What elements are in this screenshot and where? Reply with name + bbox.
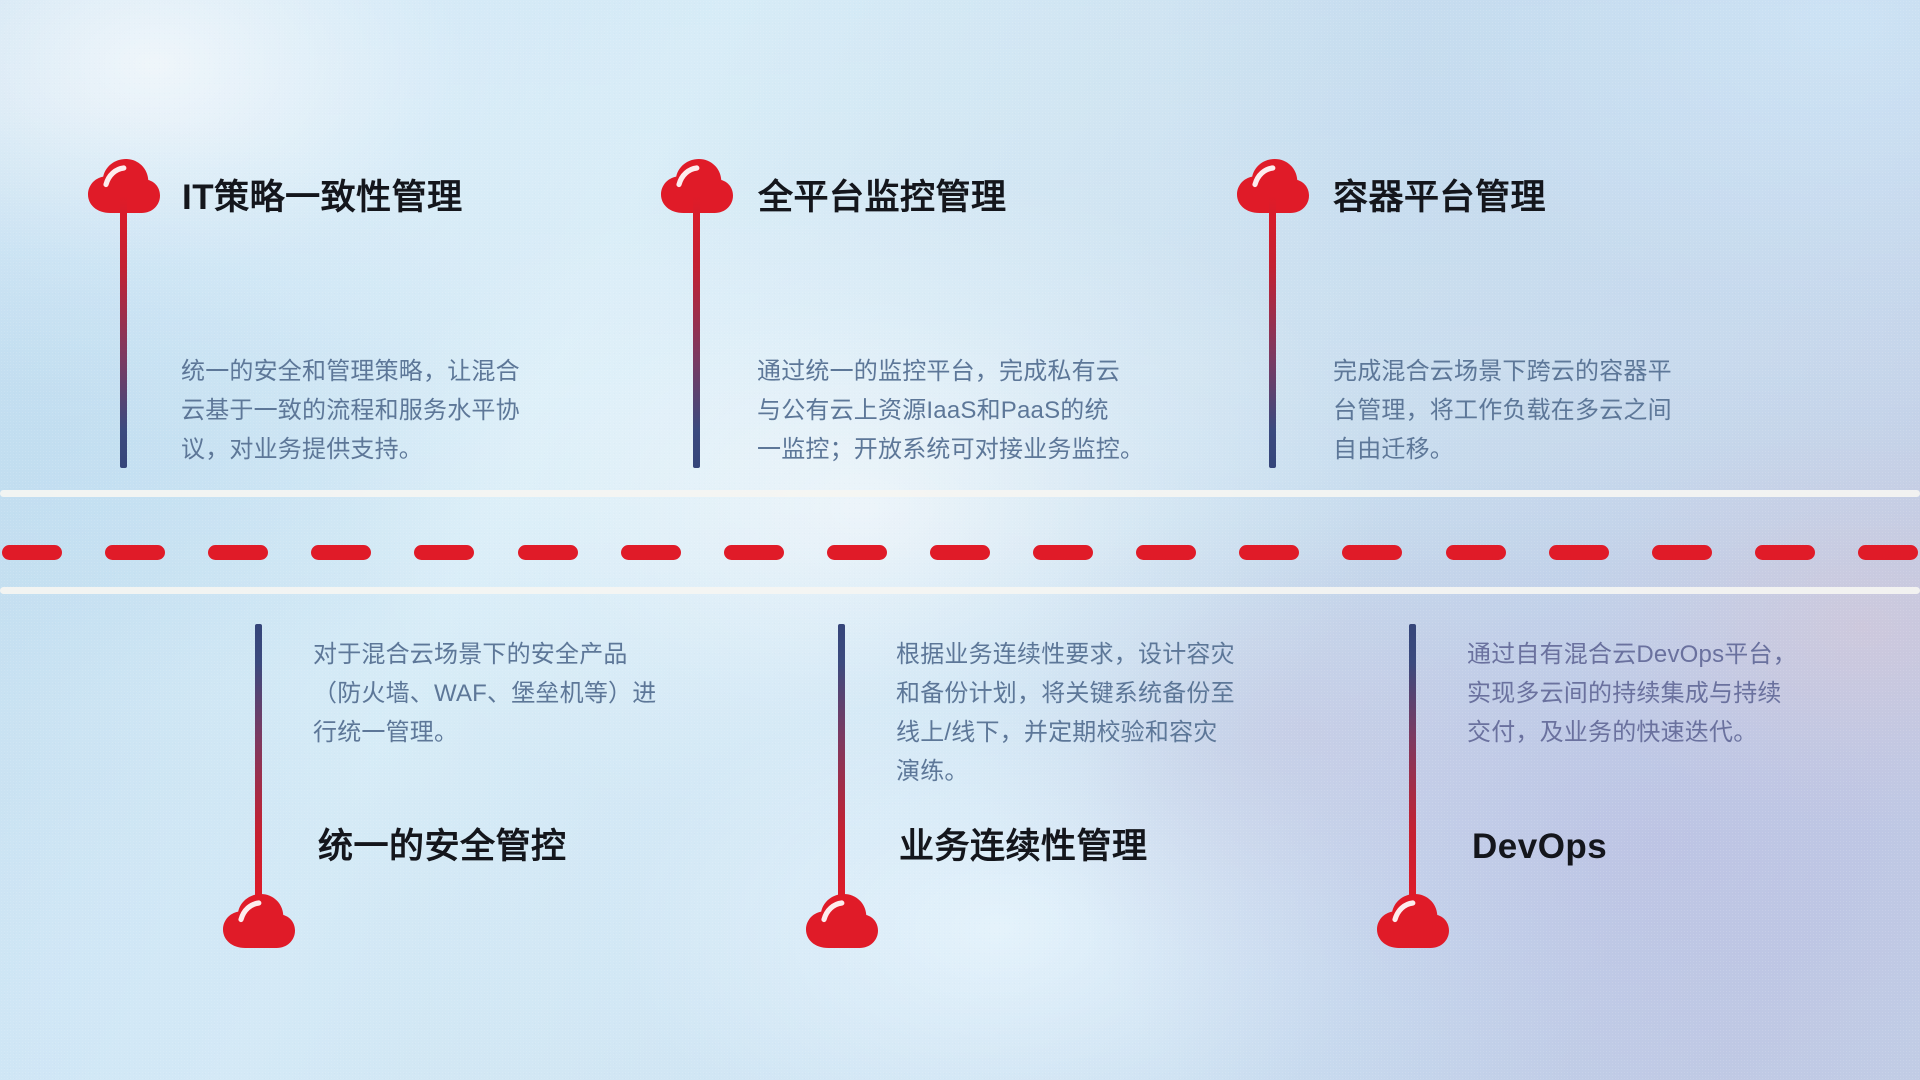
divider-dash-segment [2, 545, 62, 560]
cloud-icon [221, 893, 297, 954]
divider-rule-bottom [0, 587, 1920, 594]
desc-line: 一监控；开放系统可对接业务监控。 [757, 431, 1197, 470]
desc-line: 与公有云上资源IaaS和PaaS的统 [757, 392, 1197, 431]
desc-line: 统一的安全和管理策略，让混合 [181, 353, 611, 392]
divider-dashed-line [0, 545, 1920, 560]
desc-line: 交付，及业务的快速迭代。 [1467, 714, 1897, 753]
desc-line: 和备份计划，将关键系统备份至 [896, 675, 1326, 714]
item-title-devops: DevOps [1472, 829, 1607, 864]
item-description-devops: 通过自有混合云DevOps平台， 实现多云间的持续集成与持续 交付，及业务的快速… [1467, 636, 1897, 753]
desc-line: 通过统一的监控平台，完成私有云 [757, 353, 1197, 392]
divider-dash-segment [208, 545, 268, 560]
divider-dash-segment [1549, 545, 1609, 560]
pin-pole [838, 624, 845, 901]
divider-dash-segment [1446, 545, 1506, 560]
item-description-it-policy-consistency: 统一的安全和管理策略，让混合 云基于一致的流程和服务水平协 议，对业务提供支持。 [181, 353, 611, 470]
desc-line: 行统一管理。 [313, 714, 743, 753]
item-description-unified-security-control: 对于混合云场景下的安全产品 （防火墙、WAF、堡垒机等）进 行统一管理。 [313, 636, 743, 753]
divider-dash-segment [1652, 545, 1712, 560]
divider-dash-segment [518, 545, 578, 560]
desc-line: 线上/线下，并定期校验和容灾 [896, 714, 1326, 753]
divider-dash-segment [311, 545, 371, 560]
divider-dash-segment [930, 545, 990, 560]
pin-pole [120, 196, 127, 468]
item-description-container-platform-management: 完成混合云场景下跨云的容器平 台管理，将工作负载在多云之间 自由迁移。 [1333, 353, 1763, 470]
divider-dash-segment [1033, 545, 1093, 560]
cloud-icon [1375, 893, 1451, 954]
divider-dash-segment [1755, 545, 1815, 560]
desc-line: 云基于一致的流程和服务水平协 [181, 392, 611, 431]
desc-line: 根据业务连续性要求，设计容灾 [896, 636, 1326, 675]
divider-dash-segment [621, 545, 681, 560]
item-title-it-policy-consistency: IT策略一致性管理 [182, 180, 463, 215]
desc-line: 对于混合云场景下的安全产品 [313, 636, 743, 675]
divider-dash-segment [1342, 545, 1402, 560]
item-title-business-continuity-management: 业务连续性管理 [899, 829, 1148, 864]
item-title-unified-security-control: 统一的安全管控 [318, 829, 567, 864]
item-description-full-platform-monitoring: 通过统一的监控平台，完成私有云 与公有云上资源IaaS和PaaS的统 一监控；开… [757, 353, 1197, 470]
infographic-canvas: IT策略一致性管理 统一的安全和管理策略，让混合 云基于一致的流程和服务水平协 … [0, 0, 1920, 1080]
cloud-icon [804, 893, 880, 954]
item-title-full-platform-monitoring: 全平台监控管理 [758, 180, 1007, 215]
divider-rule-top [0, 490, 1920, 497]
pin-pole [1269, 196, 1276, 468]
pin-pole [255, 624, 262, 901]
divider-dash-segment [1136, 545, 1196, 560]
pin-pole [693, 196, 700, 468]
desc-line: 议，对业务提供支持。 [181, 431, 611, 470]
desc-line: （防火墙、WAF、堡垒机等）进 [313, 675, 743, 714]
desc-line: 完成混合云场景下跨云的容器平 [1333, 353, 1763, 392]
desc-line: 实现多云间的持续集成与持续 [1467, 675, 1897, 714]
desc-line: 台管理，将工作负载在多云之间 [1333, 392, 1763, 431]
divider-dash-segment [1239, 545, 1299, 560]
divider-dash-segment [1858, 545, 1918, 560]
desc-line: 通过自有混合云DevOps平台， [1467, 636, 1897, 675]
desc-line: 演练。 [896, 753, 1326, 792]
divider-dash-segment [105, 545, 165, 560]
item-description-business-continuity-management: 根据业务连续性要求，设计容灾 和备份计划，将关键系统备份至 线上/线下，并定期校… [896, 636, 1326, 792]
divider-dash-segment [414, 545, 474, 560]
pin-pole [1409, 624, 1416, 901]
desc-line: 自由迁移。 [1333, 431, 1763, 470]
divider-dash-segment [724, 545, 784, 560]
item-title-container-platform-management: 容器平台管理 [1333, 180, 1546, 215]
divider-dash-segment [827, 545, 887, 560]
